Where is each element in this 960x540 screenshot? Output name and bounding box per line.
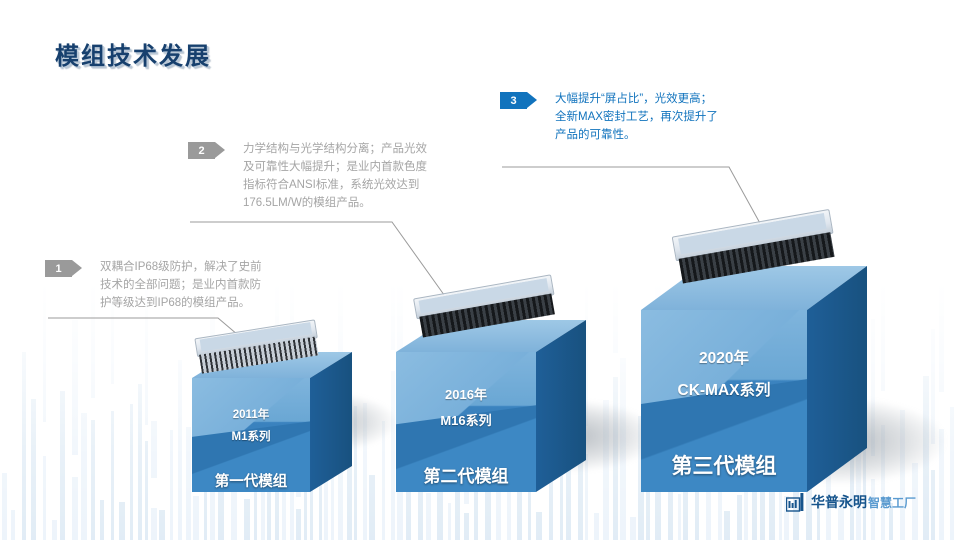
cube-generation-1: 2011年 M1系列 第一代模组: [192, 352, 352, 492]
cube-3-series: CK-MAX系列: [641, 378, 807, 400]
factory-chart-icon: [786, 492, 806, 512]
slide-canvas: 模组技术发展 2011年 M1系列 第一代模组 2016年 M16系列 第二代模…: [0, 0, 960, 540]
brand-subtitle: 智慧工厂: [868, 494, 916, 511]
callout-1: 1 双耦合IP68级防护，解决了史前 技术的全部问题；是业内首款防 护等级达到I…: [45, 258, 262, 312]
callout-3-text: 大幅提升“屏占比”，光效更高； 全新MAX密封工艺，再次提升了 产品的可靠性。: [555, 90, 718, 144]
brand-name: 华普永明: [811, 492, 867, 512]
callout-3: 3 大幅提升“屏占比”，光效更高； 全新MAX密封工艺，再次提升了 产品的可靠性…: [500, 90, 718, 144]
cube-1-year: 2011年: [192, 406, 310, 422]
cube-2-year: 2016年: [396, 384, 536, 403]
callout-1-text: 双耦合IP68级防护，解决了史前 技术的全部问题；是业内首款防 护等级达到IP6…: [100, 258, 262, 312]
cube-3-generation: 第三代模组: [641, 450, 807, 480]
callout-2-badge: 2: [188, 142, 215, 159]
callout-1-badge: 1: [45, 260, 72, 277]
cube-generation-3: 2020年 CK-MAX系列 第三代模组: [641, 266, 867, 492]
cube-1-generation: 第一代模组: [192, 470, 310, 491]
brand-logo: 华普永明 智慧工厂: [786, 492, 916, 512]
cube-2-series: M16系列: [396, 410, 536, 429]
cube-3-year: 2020年: [641, 346, 807, 368]
cube-2-generation: 第二代模组: [396, 462, 536, 487]
callout-3-badge: 3: [500, 92, 527, 109]
cube-generation-2: 2016年 M16系列 第二代模组: [396, 320, 586, 492]
callout-2-text: 力学结构与光学结构分离；产品光效 及可靠性大幅提升；是业内首款色度 指标符合AN…: [243, 140, 427, 212]
page-title: 模组技术发展: [55, 36, 211, 71]
callout-2: 2 力学结构与光学结构分离；产品光效 及可靠性大幅提升；是业内首款色度 指标符合…: [188, 140, 427, 212]
cube-1-series: M1系列: [192, 428, 310, 444]
